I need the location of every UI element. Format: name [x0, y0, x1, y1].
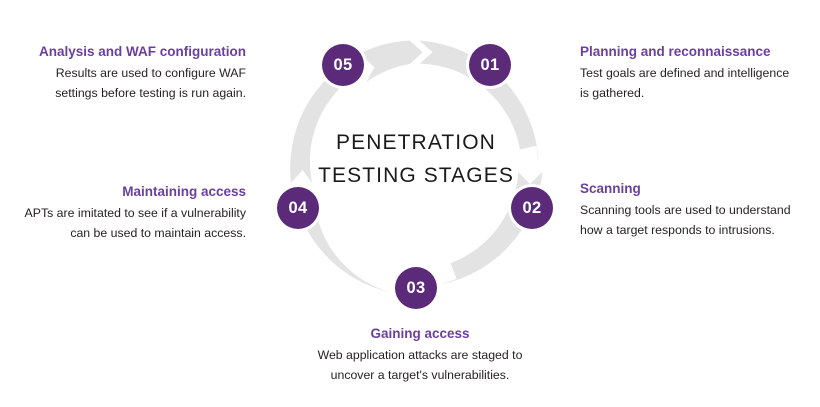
stage-label-01-body-line-1: Test goals are defined and intelligence	[580, 64, 820, 84]
stage-badge-05[interactable]: 05	[322, 44, 364, 86]
stage-label-05-title: Analysis and WAF configuration	[0, 42, 246, 61]
stage-label-05: Analysis and WAF configuration Results a…	[0, 42, 246, 103]
stage-label-02-title: Scanning	[580, 179, 820, 198]
stage-label-01-body: Test goals are defined and intelligence …	[580, 64, 820, 103]
stage-label-03-title: Gaining access	[290, 324, 550, 343]
stage-label-04: Maintaining access APTs are imitated to …	[0, 182, 246, 243]
stage-label-04-body-line-1: APTs are imitated to see if a vulnerabil…	[0, 204, 246, 224]
stage-label-03: Gaining access Web application attacks a…	[290, 324, 550, 385]
stage-label-03-body: Web application attacks are staged to un…	[290, 346, 550, 385]
stage-badge-03[interactable]: 03	[395, 267, 437, 309]
stage-label-04-body: APTs are imitated to see if a vulnerabil…	[0, 204, 246, 243]
stage-label-03-body-line-2: uncover a target's vulnerabilities.	[290, 366, 550, 386]
center-title: PENETRATION TESTING STAGES	[316, 126, 516, 192]
stage-label-03-body-line-1: Web application attacks are staged to	[290, 346, 550, 366]
stage-label-01: Planning and reconnaissance Test goals a…	[580, 42, 820, 103]
stage-label-05-body-line-2: settings before testing is run again.	[0, 84, 246, 104]
stage-label-02-body-line-1: Scanning tools are used to understand	[580, 201, 820, 221]
stage-badge-01[interactable]: 01	[469, 44, 511, 86]
center-title-line-1: PENETRATION	[316, 126, 516, 159]
stage-label-01-title: Planning and reconnaissance	[580, 42, 820, 61]
stage-label-04-title: Maintaining access	[0, 182, 246, 201]
diagram-canvas: PENETRATION TESTING STAGES 01 02 03 04 0…	[0, 0, 820, 407]
stage-label-02: Scanning Scanning tools are used to unde…	[580, 179, 820, 240]
center-title-line-2: TESTING STAGES	[316, 159, 516, 192]
stage-label-02-body: Scanning tools are used to understand ho…	[580, 201, 820, 240]
stage-label-05-body-line-1: Results are used to configure WAF	[0, 64, 246, 84]
stage-label-01-body-line-2: is gathered.	[580, 84, 820, 104]
stage-badge-04[interactable]: 04	[277, 187, 319, 229]
ring-segment-5	[360, 41, 423, 83]
stage-label-02-body-line-2: how a target responds to intrusions.	[580, 221, 820, 241]
stage-label-05-body: Results are used to configure WAF settin…	[0, 64, 246, 103]
stage-label-04-body-line-2: can be used to maintain access.	[0, 224, 246, 244]
stage-badge-02[interactable]: 02	[511, 187, 553, 229]
